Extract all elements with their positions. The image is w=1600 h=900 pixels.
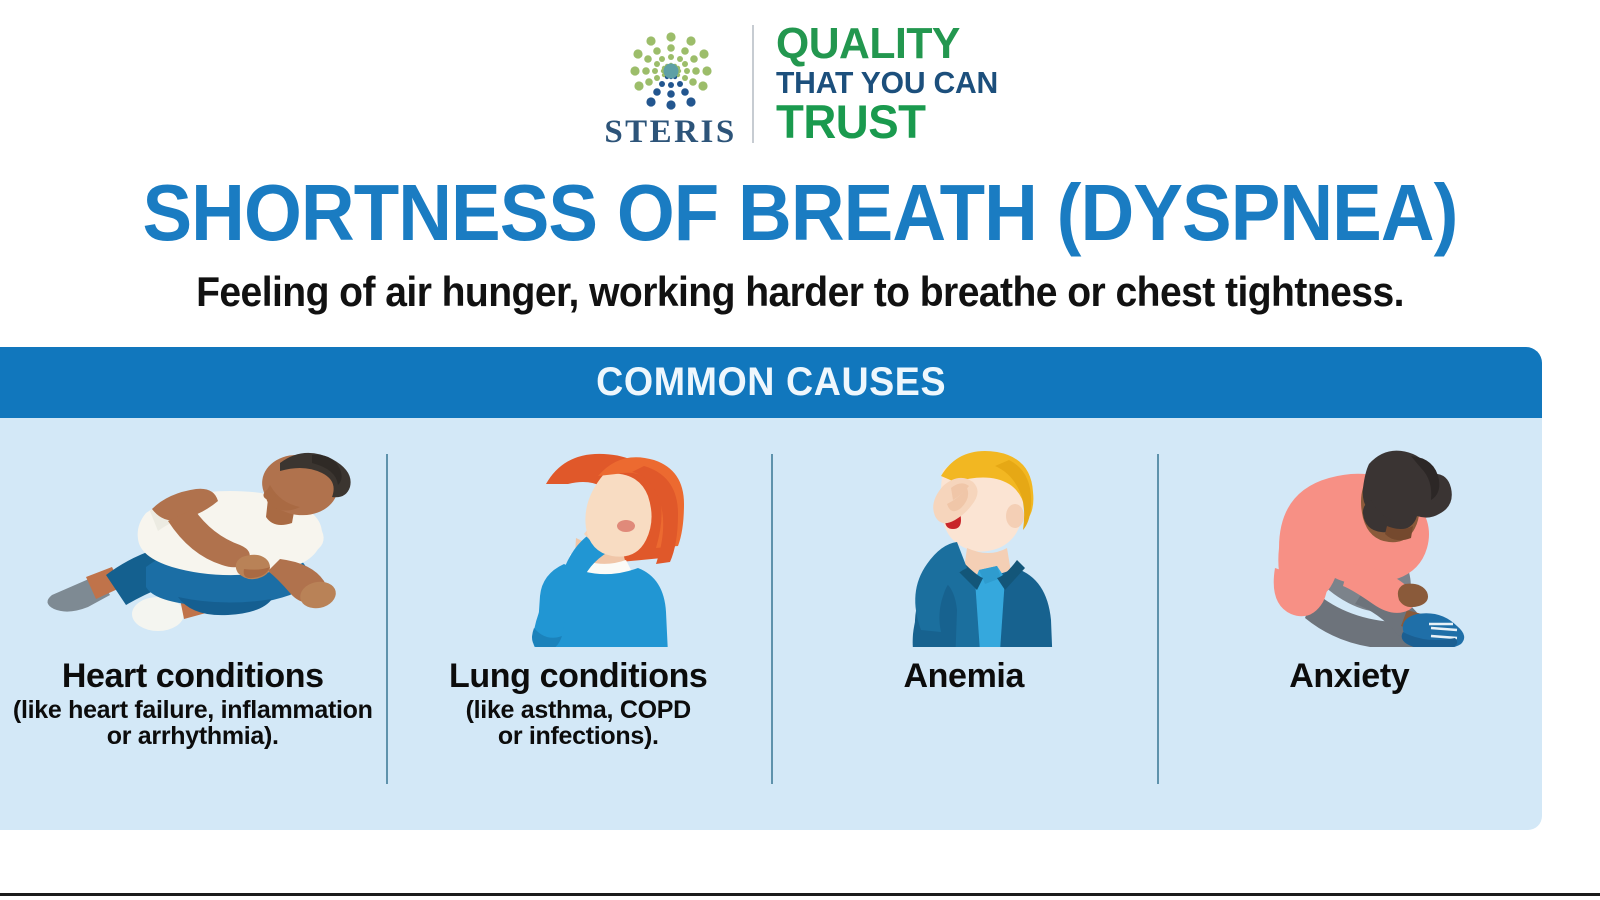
cause-card-lung-conditions: Lung conditions (like asthma, COPD or in… xyxy=(386,418,772,830)
cause-caption: Heart conditions (like heart failure, in… xyxy=(13,659,373,750)
steris-wordmark: STERIS xyxy=(604,116,736,149)
tagline-trust: TRUST xyxy=(776,99,926,144)
common-causes-panel: Heart conditions (like heart failure, in… xyxy=(0,418,1542,830)
common-causes-banner: COMMON CAUSES xyxy=(0,347,1542,418)
cause-card-anemia: Anemia xyxy=(771,418,1157,830)
cause-card-anxiety: Anxiety xyxy=(1157,418,1543,830)
page-subtitle: Feeling of air hunger, working harder to… xyxy=(56,268,1544,316)
infographic-page: STERIS QUALITY THAT YOU CAN TRUST SHORTN… xyxy=(0,0,1600,900)
steris-logo: STERIS xyxy=(596,20,746,149)
common-causes-label: COMMON CAUSES xyxy=(596,360,946,405)
cause-caption: Anxiety xyxy=(1289,659,1409,698)
steris-starburst-icon xyxy=(615,24,727,120)
brand-tagline: QUALITY THAT YOU CAN TRUST xyxy=(776,23,1005,144)
man-hand-to-face-pale-icon xyxy=(771,432,1157,647)
page-title: SHORTNESS OF BREATH (DYSPNEA) xyxy=(56,172,1544,254)
cause-title: Anxiety xyxy=(1289,659,1409,694)
cause-title: Heart conditions xyxy=(13,659,373,694)
cause-detail: (like heart failure, inflammation or arr… xyxy=(13,698,373,750)
logo-divider xyxy=(752,25,754,143)
tagline-that-you-can: THAT YOU CAN xyxy=(776,68,998,98)
cause-caption: Anemia xyxy=(904,659,1024,698)
person-lying-clutching-chest-icon xyxy=(0,432,386,647)
footer-divider xyxy=(0,893,1600,896)
cause-title: Anemia xyxy=(904,659,1024,694)
cause-caption: Lung conditions (like asthma, COPD or in… xyxy=(449,659,707,750)
person-curled-hugging-knees-icon xyxy=(1157,432,1543,647)
brand-header: STERIS QUALITY THAT YOU CAN TRUST xyxy=(0,8,1600,160)
woman-using-inhaler-icon xyxy=(386,432,772,647)
cause-detail: (like asthma, COPD or infections). xyxy=(449,698,707,750)
cause-title: Lung conditions xyxy=(449,659,707,694)
cause-card-heart-conditions: Heart conditions (like heart failure, in… xyxy=(0,418,386,830)
tagline-quality: QUALITY xyxy=(776,23,960,65)
